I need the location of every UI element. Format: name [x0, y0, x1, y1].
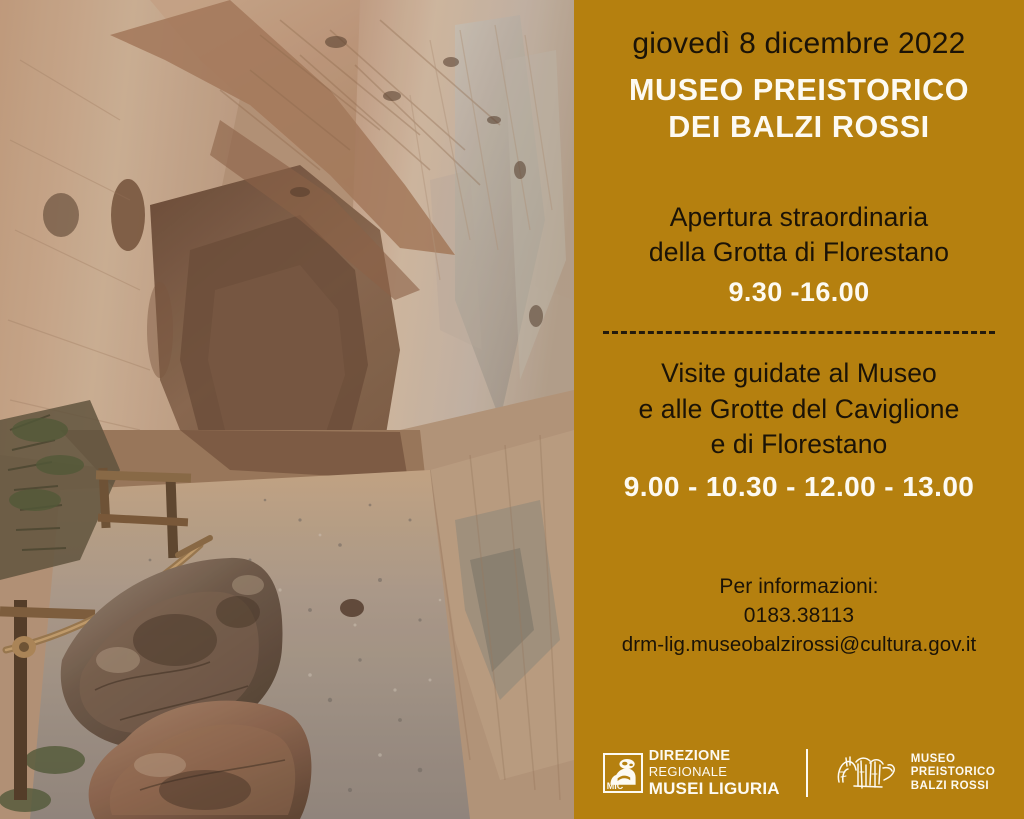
mic-word-2: REGIONALE	[649, 765, 780, 778]
logo-divider	[806, 749, 808, 797]
logo-museo-preistorico-balzi-rossi: MUSEO PREISTORICO BALZI ROSSI	[834, 752, 996, 794]
cave-sketch-icon	[834, 752, 902, 794]
visits-line-3: e di Florestano	[588, 427, 1010, 462]
opening-line-1: Apertura straordinaria	[588, 200, 1010, 235]
guided-visits-section: Visite guidate al Museo e alle Grotte de…	[588, 356, 1010, 503]
museum-word-3: BALZI ROSSI	[911, 780, 996, 794]
opening-section: Apertura straordinaria della Grotta di F…	[588, 200, 1010, 308]
museum-word-2: PREISTORICO	[911, 766, 996, 780]
mic-word-3: MUSEI LIGURIA	[649, 780, 780, 797]
balzi-rossi-sketch-icon	[834, 752, 902, 794]
contact-email[interactable]: drm-lig.museobalzirossi@cultura.gov.it	[588, 631, 1010, 659]
visits-line-1: Visite guidate al Museo	[588, 356, 1010, 391]
section-divider	[603, 331, 995, 334]
logo-direzione-regionale-musei-liguria: MiC DIREZIONE REGIONALE MUSEI LIGURIA	[603, 749, 780, 797]
mic-figure-icon: MiC	[605, 755, 641, 791]
info-panel: giovedì 8 dicembre 2022 MUSEO PREISTORIC…	[574, 0, 1024, 819]
mic-ministry-icon: MiC	[603, 753, 643, 793]
visits-line-2: e alle Grotte del Caviglione	[588, 392, 1010, 427]
event-date: giovedì 8 dicembre 2022	[588, 0, 1010, 62]
mic-word-1: DIREZIONE	[649, 749, 780, 764]
mic-mark-label: MiC	[607, 781, 624, 791]
page-title-line-2: DEI BALZI ROSSI	[588, 109, 1010, 146]
museum-word-1: MUSEO	[911, 753, 996, 767]
opening-line-2: della Grotta di Florestano	[588, 235, 1010, 270]
page-title-line-1: MUSEO PREISTORICO	[588, 72, 1010, 109]
contact-label: Per informazioni:	[588, 573, 1010, 602]
contact-phone[interactable]: 0183.38113	[588, 602, 1010, 631]
cave-photo-illustration	[0, 0, 574, 819]
poster: giovedì 8 dicembre 2022 MUSEO PREISTORIC…	[0, 0, 1024, 819]
mic-logo-wordmark: DIREZIONE REGIONALE MUSEI LIGURIA	[649, 749, 780, 797]
visits-hours: 9.00 - 10.30 - 12.00 - 13.00	[588, 471, 1010, 503]
contact-section: Per informazioni: 0183.38113 drm-lig.mus…	[588, 573, 1010, 659]
museum-logo-wordmark: MUSEO PREISTORICO BALZI ROSSI	[911, 753, 996, 794]
cave-photograph	[0, 0, 574, 819]
logo-bar: MiC DIREZIONE REGIONALE MUSEI LIGURIA	[574, 749, 1024, 797]
opening-hours: 9.30 -16.00	[588, 277, 1010, 308]
page-title: MUSEO PREISTORICO DEI BALZI ROSSI	[588, 72, 1010, 146]
